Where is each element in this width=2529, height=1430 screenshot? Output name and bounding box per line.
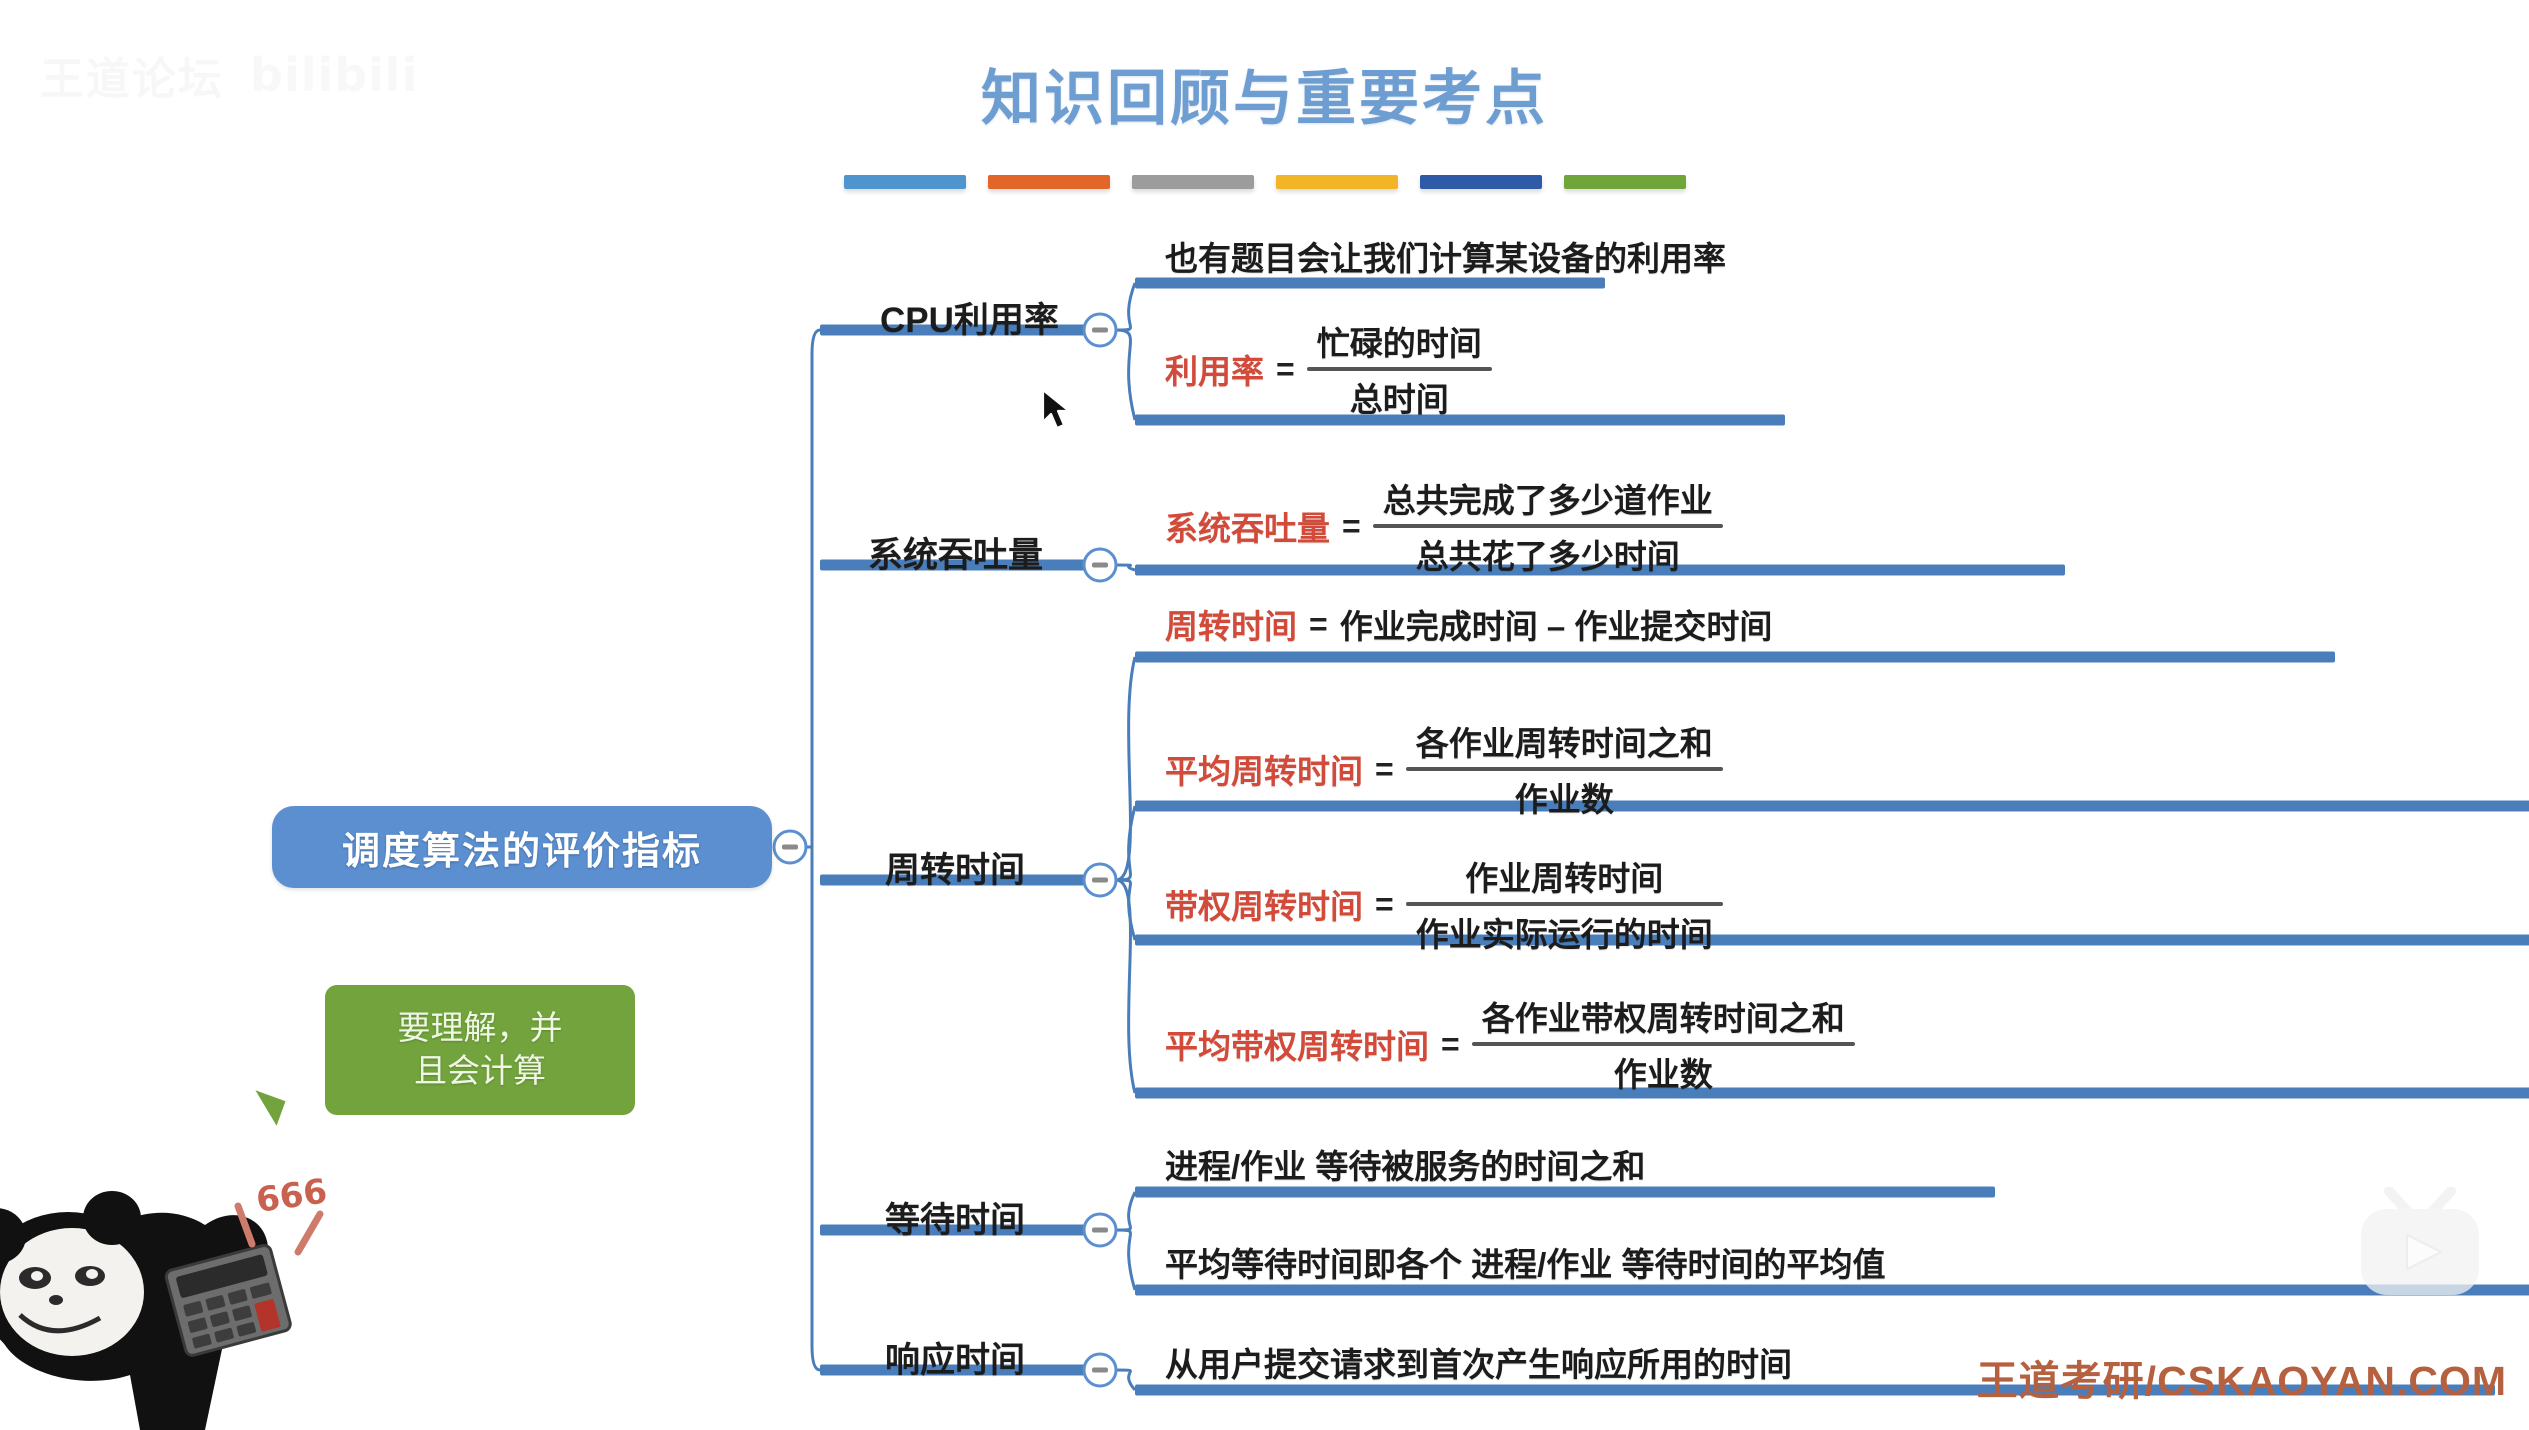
branch-label-等待时间[interactable]: 等待时间 <box>885 1192 1025 1243</box>
fraction-numerator: 各作业周转时间之和 <box>1406 715 1723 767</box>
child-connector-2-1 <box>1116 565 1135 570</box>
equals-sign: = <box>1309 606 1328 643</box>
child-connector-5-1 <box>1116 1370 1135 1390</box>
child-node-3-4[interactable]: 平均带权周转时间=各作业带权周转时间之和作业数 <box>1165 990 1855 1098</box>
node-text: 进程/作业 等待被服务的时间之和 <box>1165 1140 1645 1188</box>
formula-term: 周转时间 <box>1165 600 1297 648</box>
child-node-1-1[interactable]: 也有题目会让我们计算某设备的利用率 <box>1165 232 1726 280</box>
child-node-3-1[interactable]: 周转时间=作业完成时间 – 作业提交时间 <box>1165 600 1772 648</box>
child-connector-1-1 <box>1116 283 1135 330</box>
panda-meme-image: 666 <box>0 1140 370 1430</box>
collapse-button-等待时间[interactable] <box>1084 1214 1116 1246</box>
branch-label-响应时间[interactable]: 响应时间 <box>885 1332 1025 1383</box>
mindmap-canvas: 调度算法的评价指标 要理解，并 且会计算 CPU利用率也有题目会让我们计算某设备… <box>0 0 2529 1425</box>
child-underline-4-2 <box>1135 1285 2529 1296</box>
node-text: 从用户提交请求到首次产生响应所用的时间 <box>1165 1338 1792 1386</box>
child-node-1-2[interactable]: 利用率=忙碌的时间总时间 <box>1165 315 1492 423</box>
collapse-button-响应时间[interactable] <box>1084 1354 1116 1386</box>
callout-line-1: 要理解，并 <box>398 1007 563 1050</box>
formula-term: 平均带权周转时间 <box>1165 1020 1429 1068</box>
root-node[interactable]: 调度算法的评价指标 <box>272 806 772 888</box>
collapse-button-周转时间[interactable] <box>1084 864 1116 896</box>
child-connector-3-1 <box>1116 657 1135 880</box>
equals-sign: = <box>1441 1026 1460 1063</box>
child-connector-4-2 <box>1116 1230 1135 1290</box>
root-collapse-button[interactable] <box>774 831 806 863</box>
branch-label-CPU利用率[interactable]: CPU利用率 <box>880 292 1059 343</box>
fraction-numerator: 作业周转时间 <box>1455 850 1673 902</box>
branch-label-系统吞吐量[interactable]: 系统吞吐量 <box>868 527 1043 578</box>
equals-sign: = <box>1375 886 1394 923</box>
mindmap-spine <box>812 330 820 1370</box>
fraction-denominator: 总共花了多少时间 <box>1406 528 1690 580</box>
child-node-2-1[interactable]: 系统吞吐量=总共完成了多少道作业总共花了多少时间 <box>1165 472 1723 580</box>
collapse-button-CPU利用率[interactable] <box>1084 314 1116 346</box>
note-callout: 要理解，并 且会计算 <box>325 985 635 1115</box>
fraction: 忙碌的时间总时间 <box>1307 315 1492 423</box>
child-connector-1-2 <box>1116 330 1135 420</box>
fraction-numerator: 各作业带权周转时间之和 <box>1472 990 1855 1042</box>
equals-sign: = <box>1276 351 1295 388</box>
watermark-bottom-right: 王道考研/CSKAOYAN.COM <box>1977 1347 2507 1407</box>
fraction: 各作业带权周转时间之和作业数 <box>1472 990 1855 1098</box>
formula-expression: 作业完成时间 – 作业提交时间 <box>1340 600 1773 648</box>
child-node-3-3[interactable]: 带权周转时间=作业周转时间作业实际运行的时间 <box>1165 850 1723 958</box>
child-node-4-2[interactable]: 平均等待时间即各个 进程/作业 等待时间的平均值 <box>1165 1238 1886 1286</box>
callout-line-2: 且会计算 <box>414 1050 546 1093</box>
fraction: 作业周转时间作业实际运行的时间 <box>1406 850 1723 958</box>
fraction: 各作业周转时间之和作业数 <box>1406 715 1723 823</box>
equals-sign: = <box>1342 508 1361 545</box>
formula-term: 系统吞吐量 <box>1165 502 1330 550</box>
formula-term: 带权周转时间 <box>1165 880 1363 928</box>
node-text: 也有题目会让我们计算某设备的利用率 <box>1165 232 1726 280</box>
fraction-numerator: 忙碌的时间 <box>1307 315 1492 367</box>
root-node-label: 调度算法的评价指标 <box>342 820 702 875</box>
mindmap-connectors <box>0 0 2529 1425</box>
node-text: 平均等待时间即各个 进程/作业 等待时间的平均值 <box>1165 1238 1886 1286</box>
collapse-button-系统吞吐量[interactable] <box>1084 549 1116 581</box>
fraction-numerator: 总共完成了多少道作业 <box>1373 472 1723 524</box>
child-underline-4-1 <box>1135 1187 1995 1198</box>
fraction: 总共完成了多少道作业总共花了多少时间 <box>1373 472 1723 580</box>
child-node-5-1[interactable]: 从用户提交请求到首次产生响应所用的时间 <box>1165 1338 1792 1386</box>
fraction-denominator: 作业数 <box>1505 771 1624 823</box>
child-connector-4-1 <box>1116 1192 1135 1230</box>
branch-label-周转时间[interactable]: 周转时间 <box>885 842 1025 893</box>
formula-term: 利用率 <box>1165 345 1264 393</box>
child-node-3-2[interactable]: 平均周转时间=各作业周转时间之和作业数 <box>1165 715 1723 823</box>
fraction-denominator: 总时间 <box>1340 371 1459 423</box>
fraction-denominator: 作业数 <box>1604 1046 1723 1098</box>
child-node-4-1[interactable]: 进程/作业 等待被服务的时间之和 <box>1165 1140 1645 1188</box>
child-connector-3-4 <box>1116 880 1135 1093</box>
mouse-pointer-icon <box>1040 388 1074 432</box>
equals-sign: = <box>1375 751 1394 788</box>
formula-term: 平均周转时间 <box>1165 745 1363 793</box>
child-underline-3-1 <box>1135 652 2335 663</box>
fraction-denominator: 作业实际运行的时间 <box>1406 906 1723 958</box>
